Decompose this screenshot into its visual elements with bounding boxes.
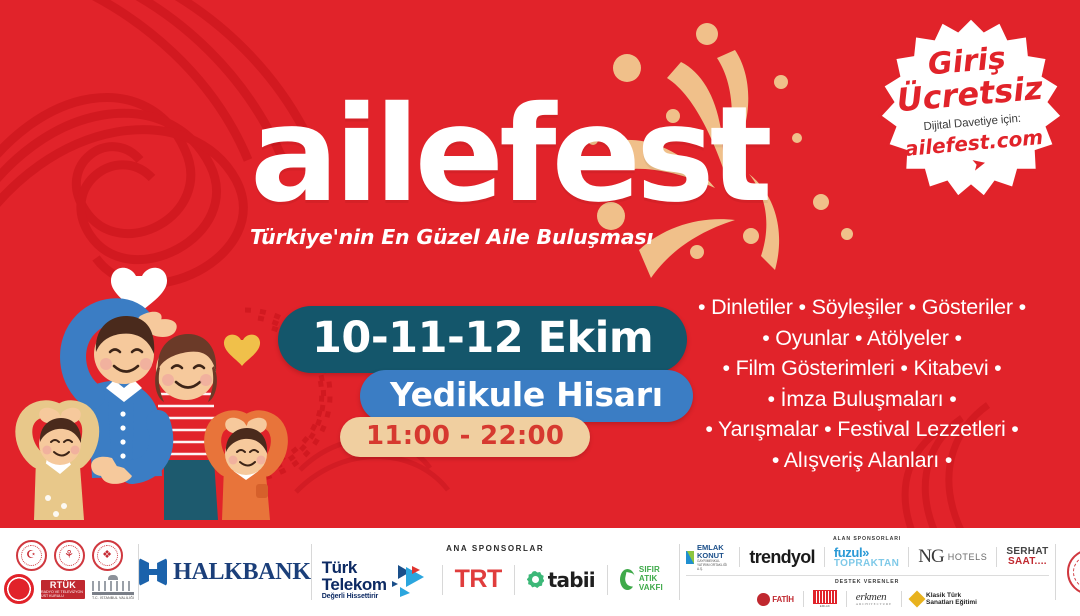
badge-line-ucretsiz: Ücretsiz [895, 72, 1044, 117]
emlak-support-mark-icon [813, 590, 837, 604]
valilik-building-icon [92, 578, 134, 595]
erkmen-sublabel: ARCHITECTURE [856, 603, 892, 606]
turk-telekom-sublabel: Değerli Hissettirir [322, 593, 387, 600]
festival-logo: ailefest Türkiye'nin En Güzel Aile Buluş… [250, 92, 850, 249]
ng-hotels-logo: NG HOTELS [918, 546, 987, 568]
cursor-arrow-icon: ➤ [970, 153, 988, 176]
event-venue-badge: Yedikule Hisarı [360, 370, 693, 422]
festival-poster: ailefest Türkiye'nin En Güzel Aile Buluş… [0, 0, 1080, 616]
serhat-sublabel: SAAT.... [1006, 557, 1048, 567]
turk-telekom-arrows-icon [390, 563, 430, 597]
emlak-konut-mark-icon [686, 551, 694, 564]
logo-wordmark: ailefest [250, 92, 850, 219]
emlak-support-label: EMLAK [813, 604, 837, 608]
valilik-label: T.C. İSTANBUL VALİLİĞİ [92, 596, 134, 600]
turk-telekom-label: Türk Telekom [322, 559, 387, 594]
area-and-support-sponsors: ALAN SPONSORLARI EMLAK KONUT GAYRİMENKUL… [680, 528, 1055, 616]
ministry-seal-icon: ☪ [16, 540, 47, 571]
rtuk-sublabel: RADYO VE TELEVİZYON ÜST KURULU [41, 590, 85, 598]
activity-line: • Dinletiler • Söyleşiler • Gösteriler • [660, 292, 1064, 323]
rtuk-label: RTÜK [50, 580, 76, 590]
sifir-atik-leaf-icon [620, 569, 635, 590]
emlak-konut-logo: EMLAK KONUT GAYRİMENKUL YATIRIM ORTAKLIĞ… [686, 544, 731, 571]
erkmen-logo: erkmen ARCHITECTURE [856, 592, 892, 606]
halkbank-label: HALKBANK [173, 559, 311, 586]
sifir-atik-vakfi-logo: SIFIR ATIK VAKFI [620, 566, 669, 593]
klasik-turk-label: Klasik Türk [926, 592, 977, 599]
activity-line: • İmza Buluşmaları • [660, 384, 1064, 415]
klasik-turk-sublabel: Sanatları Eğitimi [926, 599, 977, 606]
activity-line: • Alışveriş Alanları • [660, 445, 1064, 476]
fatih-label: FATİH [772, 595, 794, 604]
main-sponsors-section: ANA SPONSORLAR Türk Telekom Değerli Hiss… [312, 528, 679, 616]
halkbank-logo: HALKBANK [139, 528, 311, 616]
free-entry-badge[interactable]: Giriş Ücretsiz Dijital Davetiye için: ai… [876, 14, 1066, 204]
emlak-konut-label: EMLAK KONUT [697, 543, 724, 560]
main-sponsors-label: ANA SPONSORLAR [446, 544, 544, 553]
fatih-mark-icon [757, 593, 770, 606]
rtuk-logo: RTÜK RADYO VE TELEVİZYON ÜST KURULU [41, 580, 85, 599]
fuzul-label: fuzul» [834, 546, 899, 559]
sifir-atik-label: SIFIR ATIK [639, 566, 669, 584]
tabii-logo: tabii [527, 568, 595, 592]
family-illustration [8, 262, 308, 520]
fatih-logo: FATİH [757, 593, 794, 606]
activity-line: • Film Gösterimleri • Kitabevi • [660, 353, 1064, 384]
turk-telekom-logo: Türk Telekom Değerli Hissettirir [322, 559, 430, 601]
final-ministry-seal: ⚘ [1056, 528, 1080, 616]
sifir-atik-sublabel: VAKFI [639, 584, 669, 593]
activities-list: • Dinletiler • Söyleşiler • Gösteriler •… [660, 292, 1064, 475]
tabii-mark-icon [527, 571, 544, 588]
klasik-turk-sanatlari-logo: Klasik Türk Sanatları Eğitimi [911, 592, 977, 607]
ministry-seal-circle-icon: ⚘ [1067, 549, 1080, 595]
trt-logo: TRT [455, 565, 502, 594]
tabii-label: tabii [548, 568, 595, 592]
ng-mark-label: NG [918, 546, 943, 568]
klasik-turk-diamond-icon [909, 591, 926, 608]
support-sponsors-label: DESTEK VERENLER [686, 579, 1049, 585]
sponsor-bar: ☪ ⚘ ❖ RTÜK RADYO VE TELEVİZYON ÜST KURUL… [0, 528, 1080, 616]
emlak-konut-sublabel: GAYRİMENKUL YATIRIM ORTAKLIĞI A.Ş. [697, 560, 730, 571]
valilik-logo: T.C. İSTANBUL VALİLİĞİ [92, 578, 134, 600]
event-date-badge: 10-11-12 Ekim [278, 306, 687, 373]
fuzul-sublabel: TOPRAKTAN [834, 559, 899, 569]
red-emblem-icon [4, 574, 34, 604]
culture-seal-icon: ❖ [92, 540, 123, 571]
institutional-logos: ☪ ⚘ ❖ RTÜK RADYO VE TELEVİZYON ÜST KURUL… [0, 528, 138, 616]
area-sponsors-label: ALAN SPONSORLARI [686, 536, 1049, 542]
activity-line: • Yarışmalar • Festival Lezzetleri • [660, 414, 1064, 445]
trendyol-logo: trendyol [749, 547, 814, 568]
emlak-support-logo: EMLAK [813, 590, 837, 608]
event-time-badge: 11:00 - 22:00 [340, 417, 590, 457]
halkbank-mark-icon [139, 558, 167, 586]
ng-hotels-sublabel: HOTELS [948, 552, 988, 562]
activity-line: • Oyunlar • Atölyeler • [660, 323, 1064, 354]
education-seal-icon: ⚘ [54, 540, 85, 571]
fuzul-topraktan-logo: fuzul» TOPRAKTAN [834, 546, 899, 569]
serhat-saat-logo: SERHAT SAAT.... [1006, 547, 1048, 567]
